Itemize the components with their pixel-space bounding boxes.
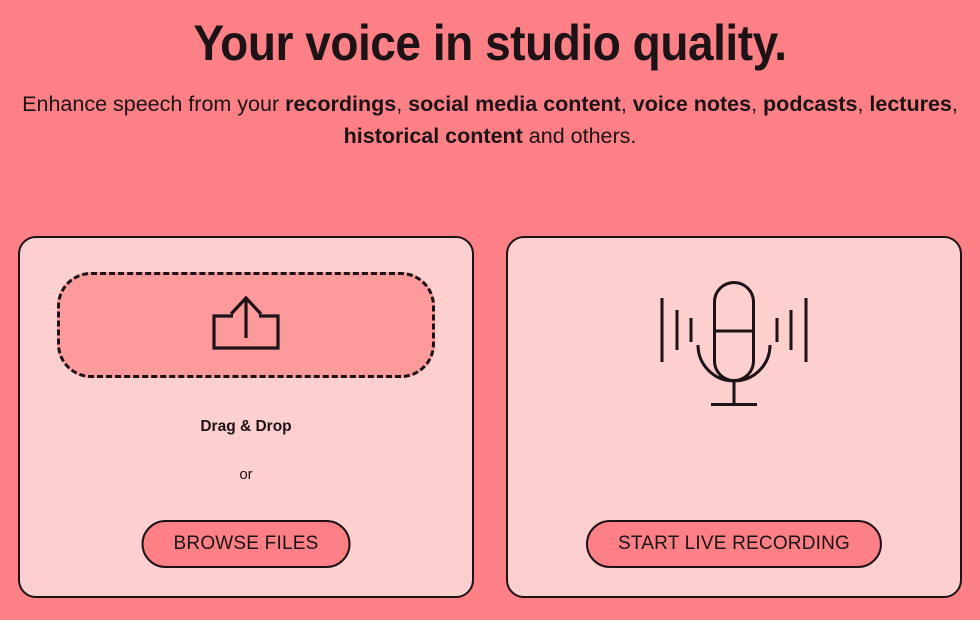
subtitle-sep-2: , (621, 92, 633, 116)
subtitle-term-podcasts: podcasts (763, 92, 857, 116)
action-cards-row: Drag & Drop or BROWSE FILES (18, 236, 962, 598)
start-live-recording-button[interactable]: START LIVE RECORDING (586, 520, 882, 568)
or-label: or (20, 466, 472, 483)
microphone-icon-wrap (508, 266, 960, 423)
subtitle-sep-5: , (952, 92, 958, 116)
browse-files-button[interactable]: BROWSE FILES (142, 520, 351, 568)
file-dropzone[interactable] (57, 272, 435, 378)
drag-drop-label: Drag & Drop (20, 418, 472, 436)
subtitle-sep-1: , (396, 92, 408, 116)
upload-card[interactable]: Drag & Drop or BROWSE FILES (18, 236, 474, 598)
subtitle-term-historical-content: historical content (344, 124, 523, 148)
upload-icon (205, 292, 287, 359)
subtitle-term-lectures: lectures (869, 92, 951, 116)
live-recording-card[interactable]: START LIVE RECORDING (506, 236, 962, 598)
subtitle-term-voice-notes: voice notes (633, 92, 751, 116)
hero-section: Your voice in studio quality. Enhance sp… (0, 0, 980, 152)
microphone-icon (659, 266, 809, 423)
page-title: Your voice in studio quality. (39, 12, 941, 74)
page-subtitle: Enhance speech from your recordings, soc… (20, 88, 960, 152)
subtitle-term-social-media-content: social media content (408, 92, 621, 116)
subtitle-term-recordings: recordings (285, 92, 396, 116)
subtitle-sep-4: , (857, 92, 869, 116)
subtitle-sep-3: , (751, 92, 763, 116)
subtitle-lead: Enhance speech from your (22, 92, 285, 116)
subtitle-tail: and others. (523, 124, 637, 148)
